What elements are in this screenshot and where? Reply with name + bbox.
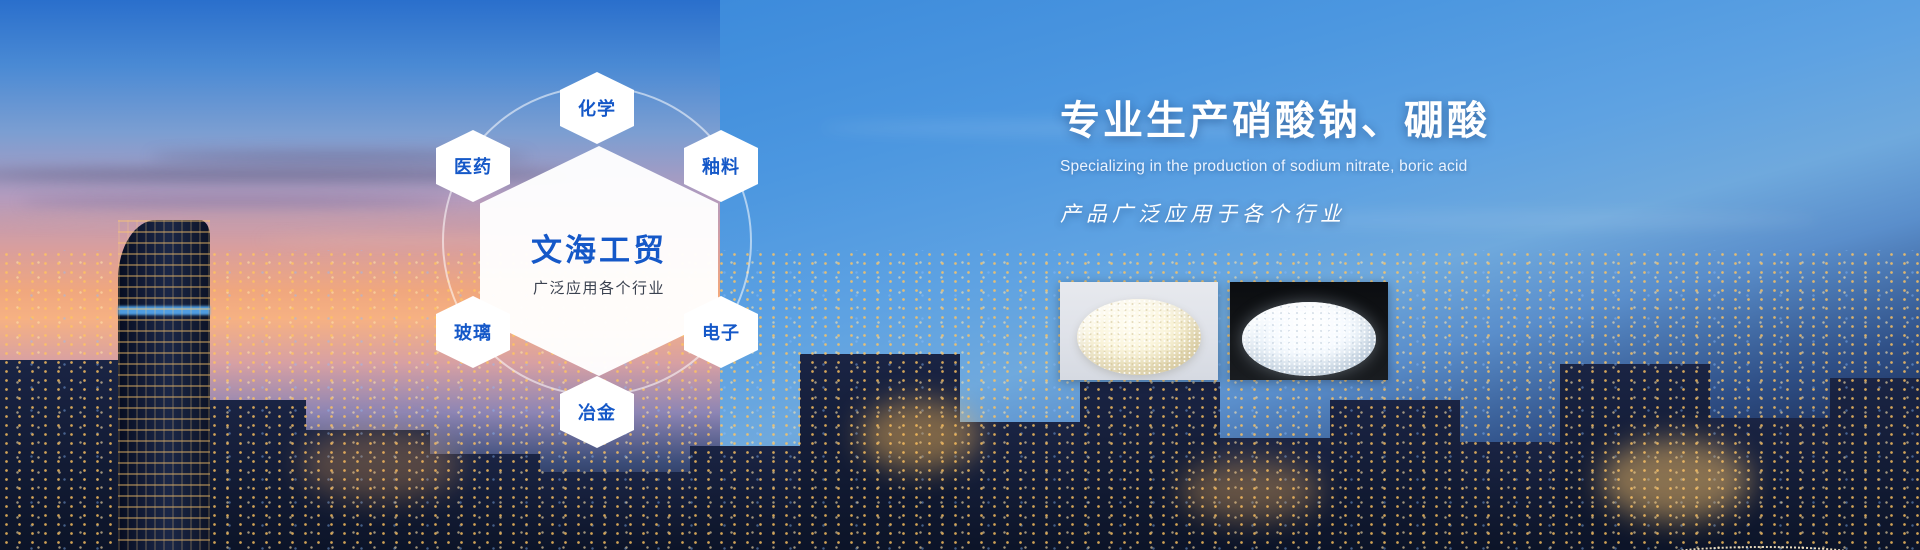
subheadline-english: Specializing in the production of sodium… bbox=[1060, 158, 1740, 176]
banner-copy: 专业生产硝酸钠、硼酸 Specializing in the productio… bbox=[1060, 98, 1740, 228]
powder-heap bbox=[1077, 299, 1201, 375]
brand-slogan: 广泛应用各个行业 bbox=[533, 277, 665, 298]
headline: 专业生产硝酸钠、硼酸 bbox=[1060, 98, 1740, 144]
city-glow bbox=[860, 400, 980, 470]
city-skyline bbox=[0, 250, 1920, 550]
industry-label: 釉料 bbox=[702, 153, 740, 179]
city-glow bbox=[1180, 460, 1320, 520]
promo-banner: 文海工贸 广泛应用各个行业 化学 釉料 电子 冶金 玻璃 医药 专业生产硝酸钠、… bbox=[0, 0, 1920, 550]
brand-name: 文海工贸 bbox=[531, 225, 667, 270]
product-photo-sodium-nitrate bbox=[1060, 282, 1218, 380]
illuminated-bridge bbox=[1612, 546, 1912, 550]
tagline: 产品广泛应用于各个行业 bbox=[1060, 198, 1740, 228]
product-photo-boric-acid bbox=[1230, 282, 1388, 380]
industry-label: 冶金 bbox=[578, 399, 616, 425]
industry-label: 医药 bbox=[454, 153, 492, 179]
industry-label: 电子 bbox=[702, 319, 740, 345]
industry-hexagon-graphic: 文海工贸 广泛应用各个行业 化学 釉料 电子 冶金 玻璃 医药 bbox=[432, 38, 762, 468]
foreground-skyscraper bbox=[118, 220, 210, 550]
powder-heap bbox=[1242, 302, 1376, 376]
city-glow bbox=[1600, 440, 1750, 520]
industry-label: 玻璃 bbox=[454, 319, 492, 345]
product-photos bbox=[1060, 282, 1388, 380]
industry-label: 化学 bbox=[578, 95, 616, 121]
